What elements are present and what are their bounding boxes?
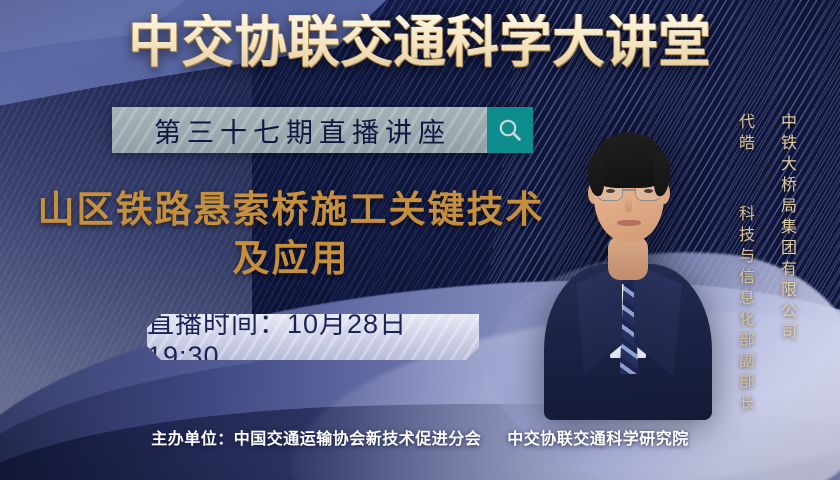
speaker-role: 科技与信息化部副部长 [732, 205, 756, 415]
topic-title-line2: 及应用 [26, 235, 556, 284]
topic-title-line1: 山区铁路悬索桥施工关键技术 [38, 189, 545, 230]
footer-org-2: 中交协联交通科学研究院 [507, 431, 689, 448]
search-button[interactable] [487, 107, 533, 153]
speaker-name: 代皓 [732, 113, 756, 155]
session-label-box: 第三十七期直播讲座 [112, 107, 487, 153]
speaker-organization: 中铁大桥局集团有限公司 [774, 113, 798, 344]
footer-prefix: 主办单位： [151, 431, 234, 448]
footer-organizers: 主办单位：中国交通运输协会新技术促进分会中交协联交通科学研究院 [0, 425, 840, 449]
footer-org-1: 中国交通运输协会新技术促进分会 [234, 431, 482, 448]
webinar-poster: 中交协联交通科学大讲堂 第三十七期直播讲座 山区铁路悬索桥施工关键技术 及应用 … [0, 0, 840, 480]
broadcast-time-badge: 直播时间：10月28日19:30 [147, 314, 479, 360]
session-bar: 第三十七期直播讲座 [112, 107, 533, 153]
session-label: 第三十七期直播讲座 [148, 111, 451, 150]
search-icon [497, 117, 523, 143]
topic-title: 山区铁路悬索桥施工关键技术 及应用 [26, 186, 556, 284]
page-title: 中交协联交通科学大讲堂 [29, 14, 810, 70]
